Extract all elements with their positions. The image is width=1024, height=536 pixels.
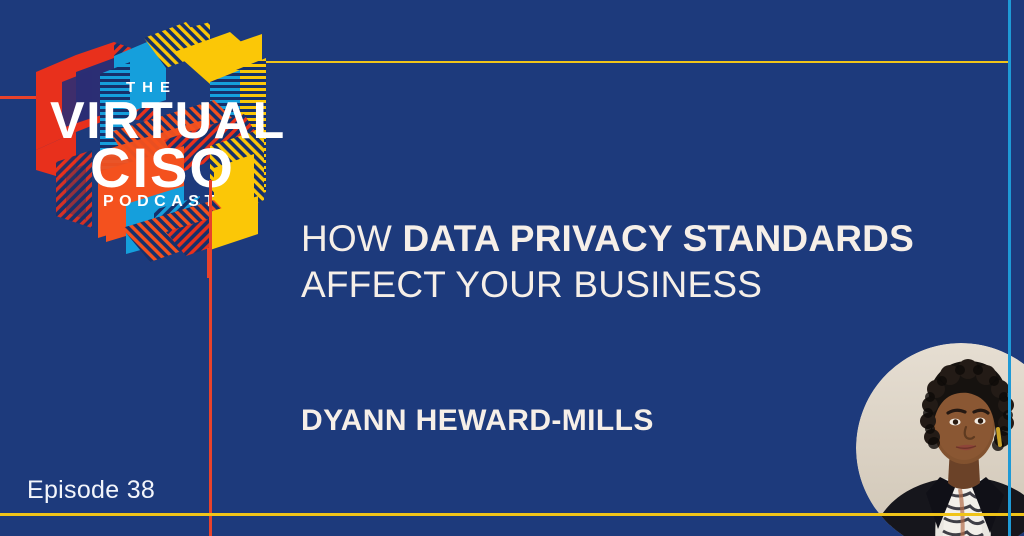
episode-number-label: Episode 38: [27, 476, 155, 505]
guest-name: DYANN HEWARD-MILLS: [301, 404, 654, 438]
virtual-ciso-podcast-logo: THE VIRTUAL CISO PODCAST: [14, 22, 286, 278]
vertical-red-rule: [209, 180, 212, 536]
portrait-illustration: [856, 343, 1024, 536]
vertical-blue-rule: [1008, 0, 1011, 536]
podcast-episode-cover: THE VIRTUAL CISO PODCAST HOW DATA PRIVAC…: [0, 0, 1024, 536]
hexagon-logo-icon: [14, 22, 286, 278]
horizontal-yellow-rule-top: [247, 61, 1011, 63]
episode-title-emphasis: DATA PRIVACY STANDARDS: [403, 218, 914, 259]
episode-title-line-2: AFFECT YOUR BUSINESS: [301, 262, 914, 308]
episode-title-line-1: HOW DATA PRIVACY STANDARDS: [301, 216, 914, 262]
guest-headshot-avatar: [856, 343, 1024, 536]
episode-title-prefix: HOW: [301, 218, 403, 259]
horizontal-yellow-rule-bottom: [0, 513, 1024, 516]
episode-title: HOW DATA PRIVACY STANDARDS AFFECT YOUR B…: [301, 216, 914, 308]
